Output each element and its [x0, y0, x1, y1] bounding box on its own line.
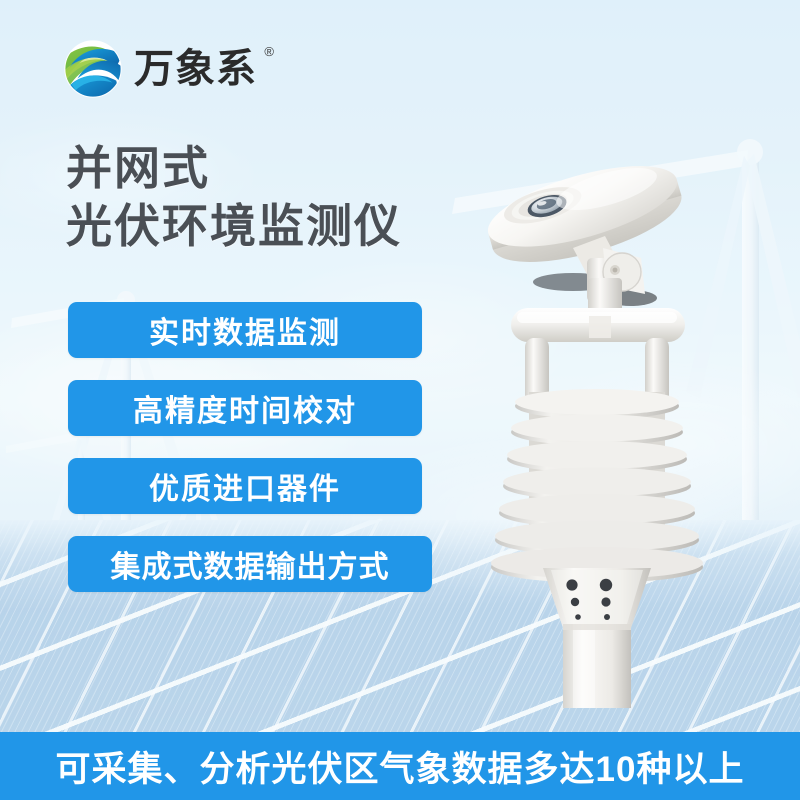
globe-swirl-logo-icon [62, 38, 124, 100]
product-image-weather-station [455, 130, 755, 710]
feature-badge-time-calibration[interactable]: 高精度时间校对 [68, 380, 422, 436]
mounting-pole [563, 624, 631, 708]
radiation-shield-louvers [491, 389, 703, 583]
brand-logo: 万象系 ® [62, 38, 257, 100]
bottom-banner: 可采集、分析光伏区气象数据多达10种以上 [0, 732, 800, 800]
feature-badge-realtime-monitoring[interactable]: 实时数据监测 [68, 302, 422, 358]
poster-canvas: 万象系 ® 并网式 光伏环境监测仪 实时数据监测 高精度时间校对 优质进口器件 … [0, 0, 800, 800]
registered-trademark-symbol: ® [264, 45, 275, 58]
page-title: 并网式 光伏环境监测仪 [66, 142, 402, 253]
brand-name-text: 万象系 [134, 47, 257, 91]
feature-badge-imported-components[interactable]: 优质进口器件 [68, 458, 422, 514]
feature-badge-integrated-output[interactable]: 集成式数据输出方式 [68, 536, 432, 592]
headline-line-1: 并网式 [66, 142, 402, 194]
sensor-port-base [543, 568, 651, 628]
brand-wordmark: 万象系 ® [134, 49, 257, 89]
feature-badge-list: 实时数据监测 高精度时间校对 优质进口器件 集成式数据输出方式 [68, 302, 432, 614]
bottom-banner-text: 可采集、分析光伏区气象数据多达10种以上 [56, 741, 745, 792]
headline-line-2: 光伏环境监测仪 [66, 200, 402, 252]
